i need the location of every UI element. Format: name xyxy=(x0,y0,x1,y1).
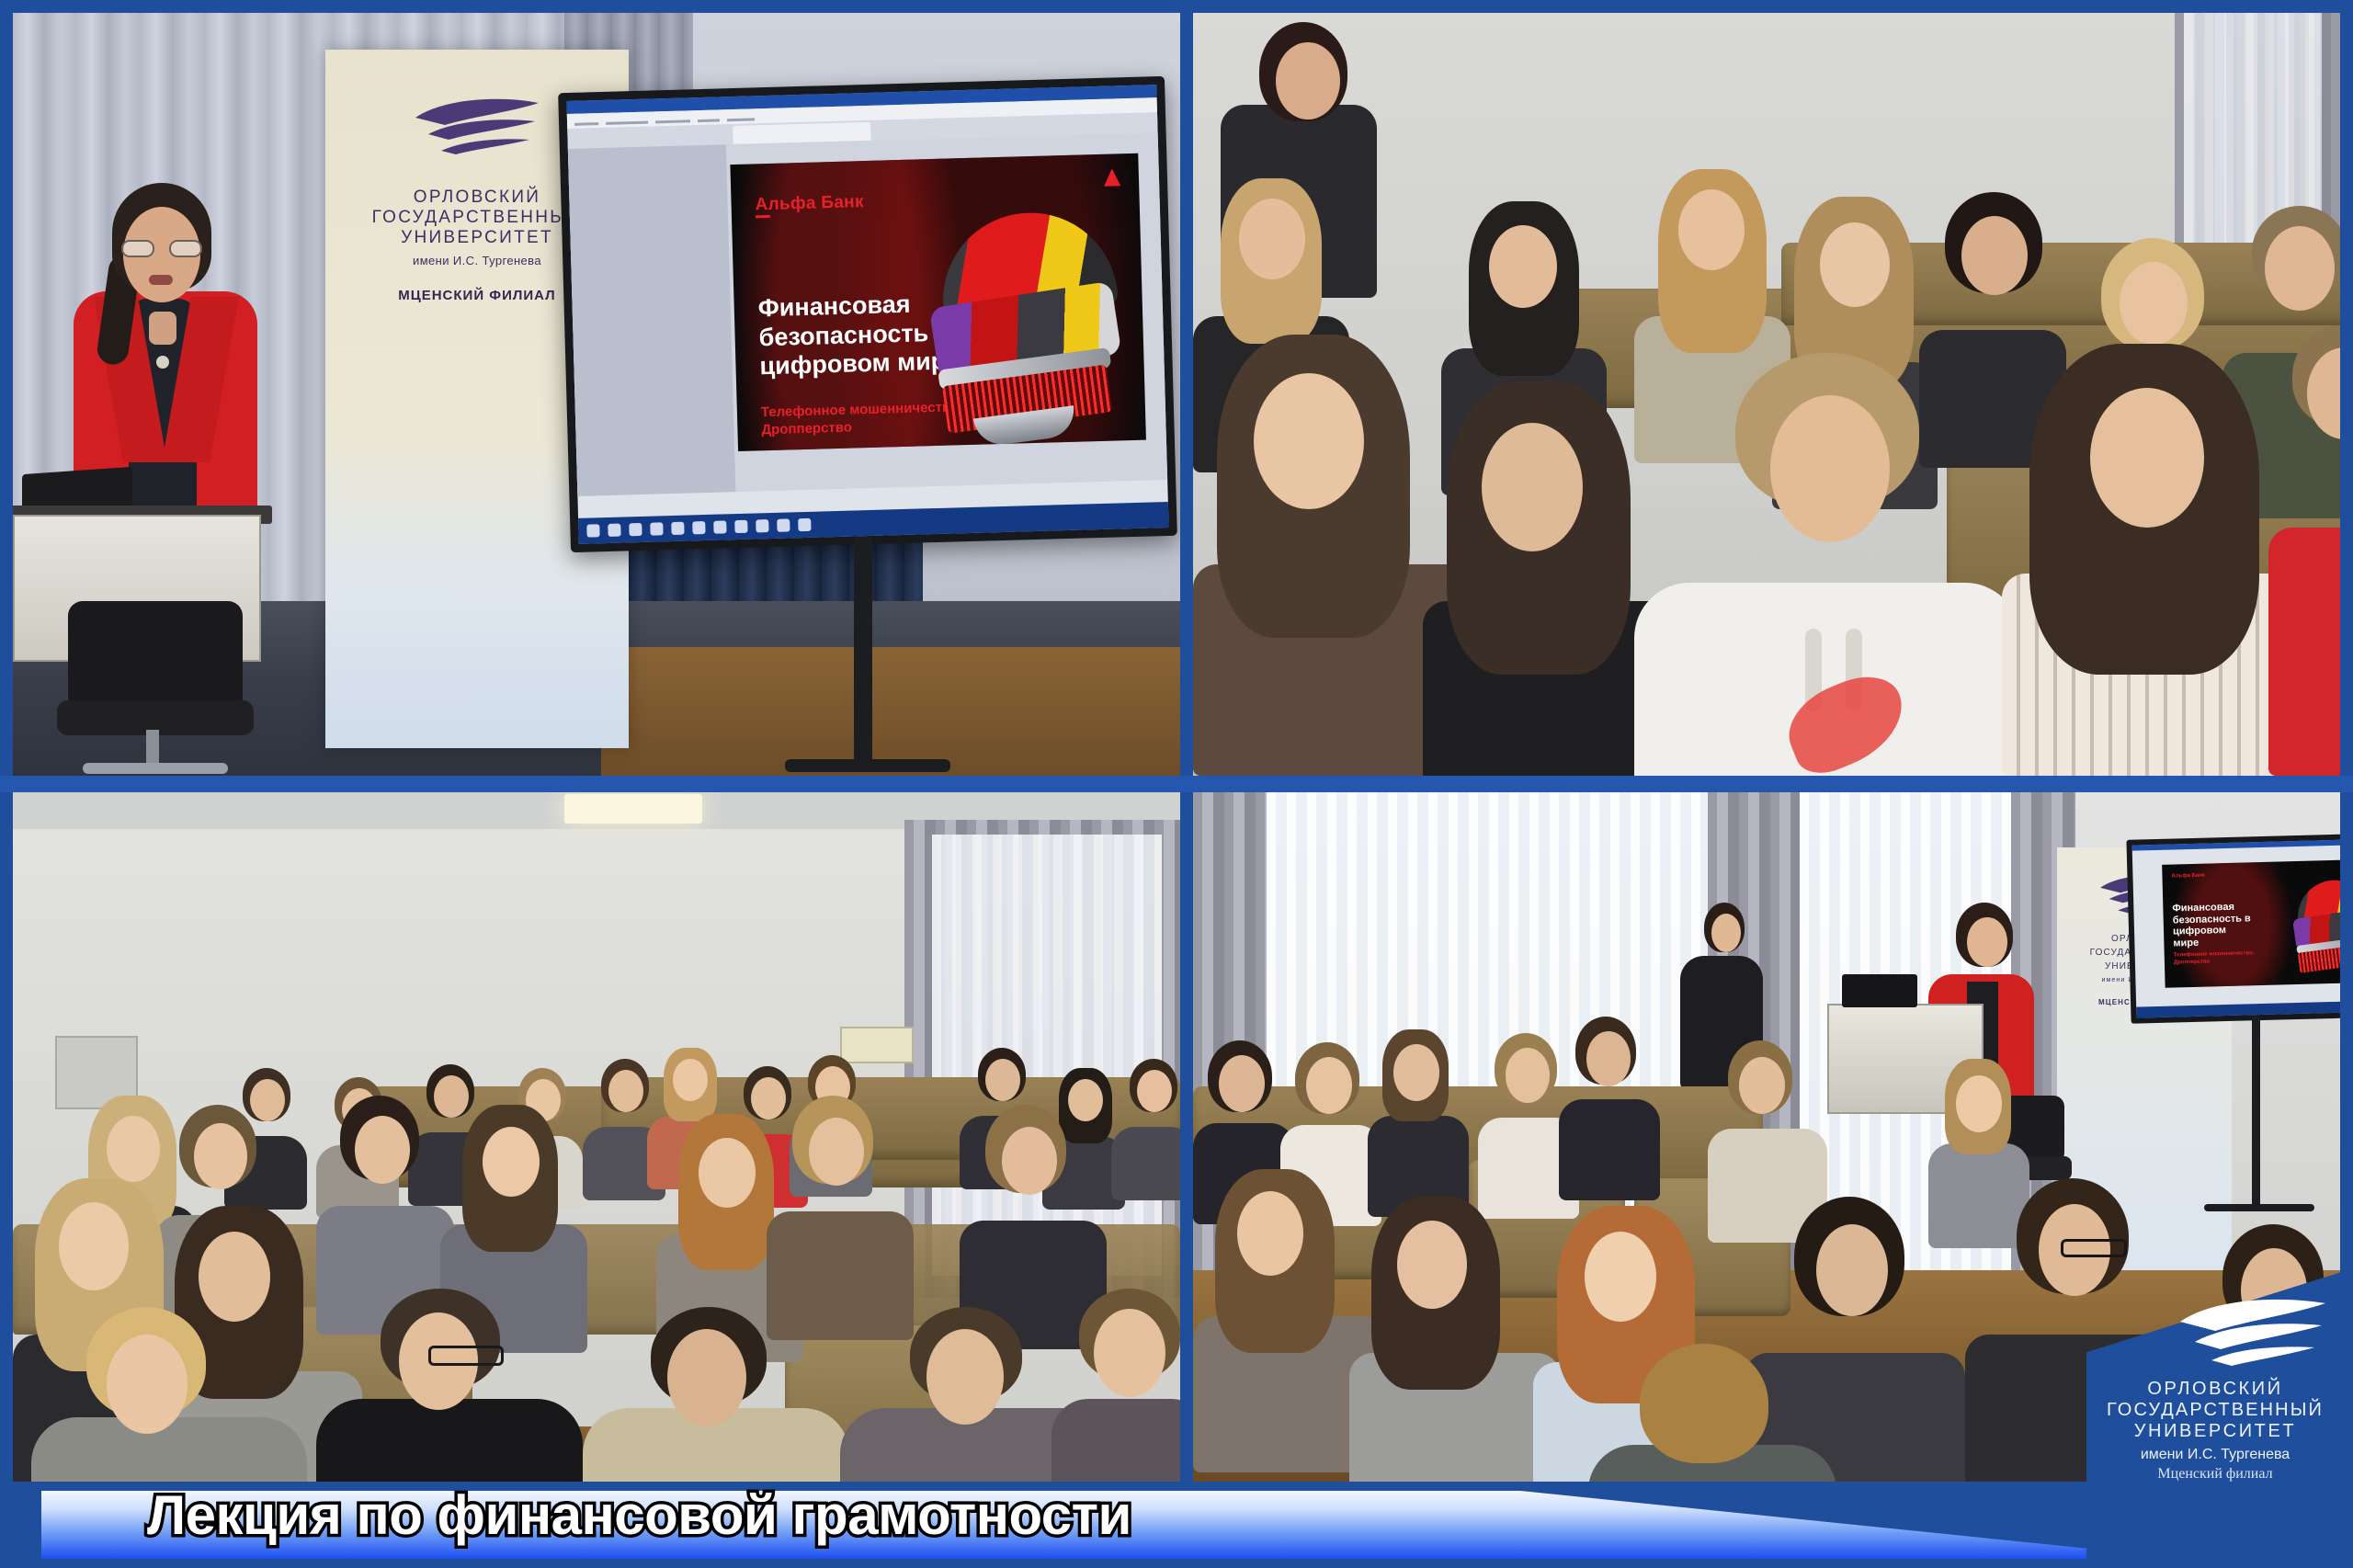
panel-presenter-and-screen: ОРЛОВСКИЙ ГОСУДАРСТВЕННЫЙ УНИВЕРСИТЕТ им… xyxy=(13,13,1180,776)
caption-text: Лекция по финансовой грамотности xyxy=(147,1483,1131,1547)
divider-horizontal xyxy=(0,776,2353,792)
divider-vertical xyxy=(1180,0,1193,1482)
presenter-mouth xyxy=(149,275,173,285)
student-foreground-dark-hoodie xyxy=(316,1289,574,1482)
student xyxy=(1368,1029,1469,1213)
student-foreground-beige xyxy=(583,1307,840,1482)
logo-line-5: Мценский филиал xyxy=(2086,1466,2344,1483)
panel-students-closeup xyxy=(1193,13,2340,776)
racing-helmet-graphic-small xyxy=(2286,880,2340,977)
alfa-bank-logo: Альфа Банк xyxy=(755,192,864,215)
eyeglasses-icon xyxy=(121,240,202,257)
display-stand-pole xyxy=(854,537,872,767)
frame-right xyxy=(2340,0,2353,1482)
student-foreground xyxy=(1051,1289,1180,1482)
university-logo-corner: ОРЛОВСКИЙ ГОСУДАРСТВЕННЫЙ УНИВЕРСИТЕТ им… xyxy=(2086,1268,2353,1568)
thumbnail-sidebar[interactable] xyxy=(568,144,735,496)
display-stand-foot xyxy=(785,759,950,772)
eagle-wing-icon xyxy=(408,94,546,158)
logo-line-2: ГОСУДАРСТВЕННЫЙ xyxy=(2086,1400,2344,1421)
caption-bar: Лекция по финансовой грамотности xyxy=(0,1482,2353,1568)
logo-text-block: ОРЛОВСКИЙ ГОСУДАРСТВЕННЫЙ УНИВЕРСИТЕТ им… xyxy=(2086,1379,2344,1483)
laptop-small xyxy=(1842,974,1917,1007)
logo-line-3: УНИВЕРСИТЕТ xyxy=(2086,1421,2344,1442)
presenter-pendant xyxy=(156,356,169,369)
windows-taskbar[interactable] xyxy=(578,502,1169,544)
student-foreground-red xyxy=(2268,325,2340,776)
student xyxy=(767,1096,904,1325)
student-foreground xyxy=(1349,1197,1552,1482)
presenter-neck xyxy=(149,312,176,345)
frame-left xyxy=(0,0,13,1482)
alfa-bank-logo-small: Альфа Банк xyxy=(2171,873,2205,880)
presentation-display-small: Альфа Банк Финансовая безопасность в циф… xyxy=(2126,833,2340,1024)
alfa-triangle-icon xyxy=(1104,168,1121,186)
slide-subtitle-small: Телефонное мошенничество. Дропперство xyxy=(2174,950,2262,967)
logo-line-1: ОРЛОВСКИЙ xyxy=(2086,1379,2344,1400)
display-stand-pole-small xyxy=(2252,1017,2260,1210)
student-foreground-hoodie xyxy=(1634,353,2020,776)
presentation-display: Альфа Банк Финансовая безопасность в циф… xyxy=(558,76,1177,552)
panel-auditorium-wide xyxy=(13,792,1180,1482)
display-stand-foot-small xyxy=(2204,1204,2314,1211)
frame-top xyxy=(0,0,2353,13)
slide-content: Альфа Банк Финансовая безопасность в циф… xyxy=(730,153,1146,451)
photo-collage: ОРЛОВСКИЙ ГОСУДАРСТВЕННЫЙ УНИВЕРСИТЕТ им… xyxy=(0,0,2353,1568)
logo-line-4: имени И.С. Тургенева xyxy=(2086,1447,2344,1463)
office-chair xyxy=(50,601,261,776)
floor-wood xyxy=(601,647,1180,776)
student-foreground-front xyxy=(1588,1344,1827,1482)
student-foreground-blond xyxy=(31,1307,298,1482)
student xyxy=(1559,1017,1660,1200)
student-foreground-plaid xyxy=(2002,344,2305,776)
slide-title-small: Финансовая безопасность в цифровом мире xyxy=(2172,901,2254,949)
student xyxy=(1111,1059,1180,1197)
eagle-wing-icon xyxy=(2175,1296,2331,1369)
racing-helmet-graphic xyxy=(914,210,1131,446)
